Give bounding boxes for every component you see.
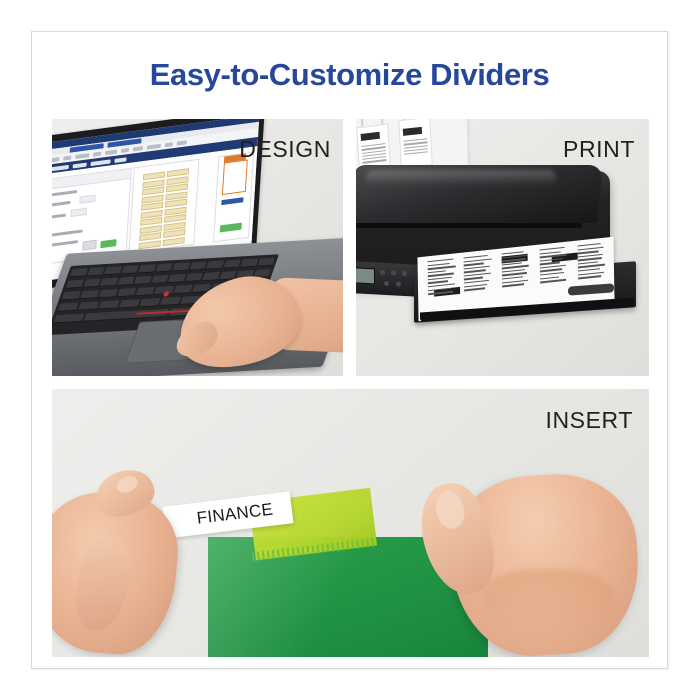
next-button-screen[interactable] xyxy=(220,223,242,233)
right-hand-knuckles xyxy=(482,569,614,639)
divider-preview-thumbnail xyxy=(222,159,248,195)
feed-sheet-2 xyxy=(398,119,432,168)
lid-highlight xyxy=(365,170,557,186)
printer-button-3[interactable] xyxy=(402,271,407,276)
cancel-button-screen[interactable] xyxy=(82,240,96,251)
page-title: Easy-to-Customize Dividers xyxy=(32,57,667,93)
preview-sidebar[interactable] xyxy=(213,152,254,243)
product-feature-card: Easy-to-Customize Dividers xyxy=(31,31,668,669)
hand-holding-divider xyxy=(430,441,649,657)
printer-lcd-display xyxy=(356,267,375,285)
label-strip-text: FINANCE xyxy=(196,500,275,529)
printer-button-5[interactable] xyxy=(396,282,401,287)
step-label-print: PRINT xyxy=(563,136,635,163)
trackpoint-nub[interactable] xyxy=(163,291,170,297)
printer-button-1[interactable] xyxy=(380,270,385,275)
panel-insert[interactable]: FINANCE INSERT xyxy=(52,389,649,657)
printer-button-2[interactable] xyxy=(391,270,396,275)
step-label-design: DESIGN xyxy=(239,136,331,163)
printer-button-4[interactable] xyxy=(384,281,389,286)
template-preview-pane[interactable] xyxy=(129,159,200,254)
hand-holding-label xyxy=(52,465,204,655)
printer-scanner-lid[interactable] xyxy=(356,165,603,223)
sidebar-action-bar xyxy=(221,197,243,205)
label-template-grid xyxy=(139,168,189,237)
step-label-insert: INSERT xyxy=(545,407,633,434)
panel-print[interactable]: PRINT xyxy=(356,119,649,376)
panel-design[interactable]: DESIGN xyxy=(52,119,343,376)
options-pane-header xyxy=(52,169,131,190)
apply-button-screen[interactable] xyxy=(100,239,116,248)
